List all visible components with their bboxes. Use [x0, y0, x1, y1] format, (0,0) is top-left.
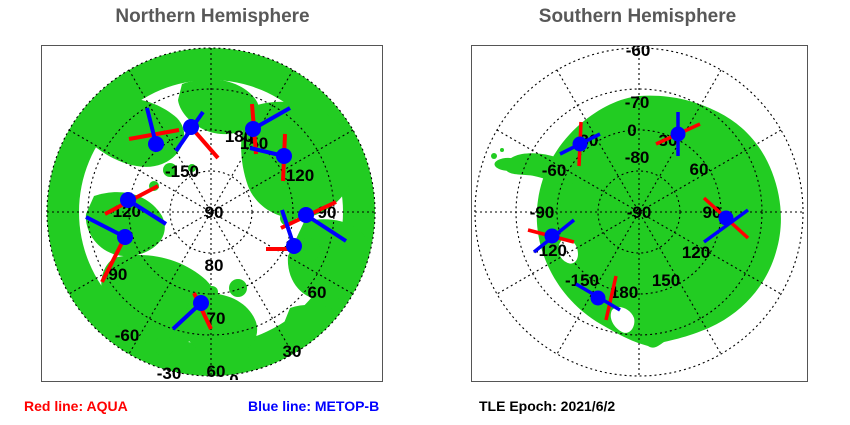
svg-text:-60: -60: [115, 326, 140, 345]
svg-text:120: 120: [286, 166, 314, 185]
plot-frame-north: 180 -150 -120 -90 -60 -30 0 30 60 90 120…: [41, 45, 383, 382]
svg-text:-90: -90: [530, 203, 555, 222]
page-title-north: Northern Hemisphere: [0, 6, 425, 28]
svg-text:-60: -60: [626, 46, 651, 60]
svg-text:60: 60: [308, 283, 327, 302]
plot-frame-south: 0 30 60 90 120 150 180 -150 -120 -90 -60…: [471, 45, 808, 382]
svg-text:80: 80: [205, 256, 224, 275]
polar-plot-north: 180 -150 -120 -90 -60 -30 0 30 60 90 120…: [42, 46, 381, 380]
svg-text:-60: -60: [542, 161, 567, 180]
legend-metop-blue-line: Blue line: METOP-B: [248, 398, 379, 414]
svg-text:-80: -80: [625, 148, 650, 167]
svg-text:30: 30: [283, 342, 302, 361]
svg-text:60: 60: [207, 362, 226, 380]
svg-text:-90: -90: [627, 203, 652, 222]
legend-aqua-red-line: Red line: AQUA: [24, 398, 128, 414]
svg-text:90: 90: [205, 203, 224, 222]
svg-text:0: 0: [627, 121, 636, 140]
panel-southern-hemisphere: Southern Hemisphere: [425, 0, 850, 425]
polar-plot-south: 0 30 60 90 120 150 180 -150 -120 -90 -60…: [472, 46, 806, 380]
svg-text:150: 150: [652, 271, 680, 290]
svg-text:0: 0: [229, 371, 238, 380]
panel-northern-hemisphere: Northern Hemisphere: [0, 0, 425, 425]
svg-text:-30: -30: [157, 364, 182, 380]
svg-text:60: 60: [690, 160, 709, 179]
svg-text:-150: -150: [165, 162, 199, 181]
svg-text:-70: -70: [625, 93, 650, 112]
page-title-south: Southern Hemisphere: [425, 6, 850, 28]
legend-tle-epoch: TLE Epoch: 2021/6/2: [479, 398, 615, 414]
svg-text:120: 120: [682, 243, 710, 262]
